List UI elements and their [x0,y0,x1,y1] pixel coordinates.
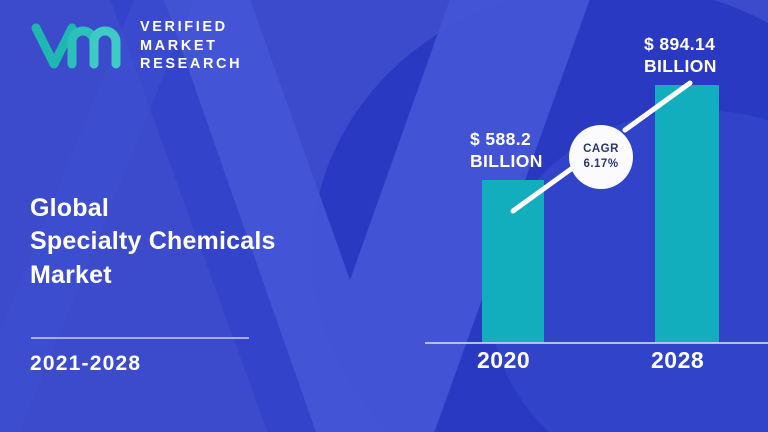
value-amount-2020: $ 588.2 [470,128,543,150]
cagr-badge[interactable]: CAGR 6.17% [569,125,633,189]
infographic-slide: VERIFIED MARKET RESEARCH Global Specialt… [0,0,768,432]
value-unit-2020: BILLION [470,150,543,172]
bar-2020[interactable] [482,180,544,343]
bar-2028[interactable] [655,85,719,343]
x-axis-line [425,342,768,344]
value-label-2028: $ 894.14 BILLION [644,33,717,78]
value-unit-2028: BILLION [644,55,717,77]
cagr-badge-title: CAGR [583,143,619,156]
value-amount-2028: $ 894.14 [644,33,717,55]
x-axis-label-2028: 2028 [651,347,704,374]
cagr-badge-value: 6.17% [583,158,618,171]
x-axis-label-2020: 2020 [477,347,530,374]
value-label-2020: $ 588.2 BILLION [470,128,543,173]
bar-chart: $ 588.2 BILLION $ 894.14 BILLION CAGR 6.… [0,0,768,432]
